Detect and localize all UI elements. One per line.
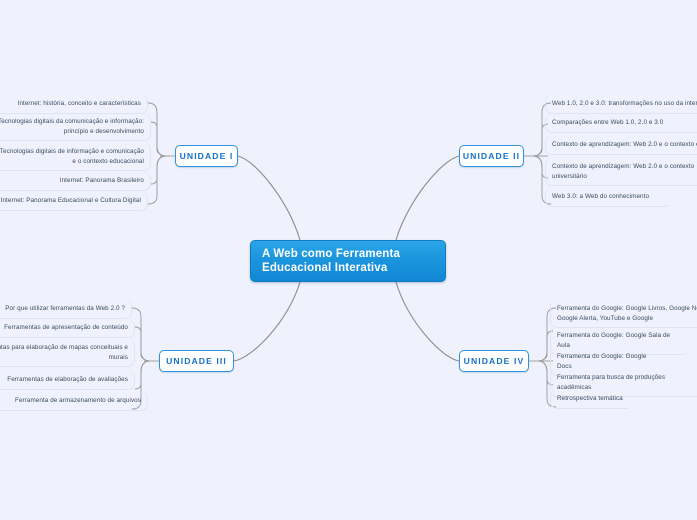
leaf-item[interactable]: Tecnologias digitais de informação e com… — [0, 143, 151, 171]
leaf-item[interactable]: Contexto de aprendizagem: Web 2.0 e o co… — [545, 158, 697, 186]
leaf-item[interactable]: Internet: Panorama Educacional e Cultura… — [0, 192, 148, 211]
leaf-item[interactable]: Internet: história, conceito e caracterí… — [0, 95, 148, 114]
branch-node-unidade-i[interactable]: UNIDADE I — [175, 145, 238, 167]
central-topic-node[interactable]: A Web como Ferramenta Educacional Intera… — [250, 240, 446, 282]
leaf-item[interactable]: Retrospectiva temática — [550, 390, 630, 409]
leaf-item[interactable]: Contexto de aprendizagem: Web 2.0 e o co… — [545, 136, 697, 155]
connector-center-branch-1 — [396, 156, 459, 240]
leaf-item[interactable]: Web 1.0, 2.0 e 3.0: transformações no us… — [545, 95, 697, 114]
connector-center-branch-3 — [396, 282, 459, 361]
branch-node-unidade-iii[interactable]: UNIDADE III — [159, 350, 234, 372]
leaf-item[interactable]: Tecnologias digitais da comunicação e in… — [0, 113, 151, 141]
leaf-item[interactable]: Internet: Panorama Brasileiro — [0, 172, 151, 191]
connector-center-branch-0 — [238, 156, 300, 240]
leaf-item[interactable]: Comparações entre Web 1.0, 2.0 e 3.0 — [545, 114, 697, 133]
connector-center-branch-2 — [234, 282, 300, 361]
mindmap-canvas[interactable]: A Web como Ferramenta Educacional Intera… — [0, 0, 697, 520]
branch-node-unidade-ii[interactable]: UNIDADE II — [459, 145, 524, 167]
leaf-item[interactable]: Ferramentas de apresentação de conteúdo — [0, 319, 135, 338]
branch-node-unidade-iv[interactable]: UNIDADE IV — [459, 350, 529, 372]
leaf-item[interactable]: Por que utilizar ferramentas da Web 2.0 … — [0, 300, 132, 319]
leaf-item[interactable]: Ferramentas de elaboração de avaliações — [0, 371, 135, 390]
leaf-item[interactable]: Ferramenta do Google: Google Livros, Goo… — [550, 300, 697, 328]
leaf-item[interactable]: Ferramenta de armazenamento de arquivos — [0, 392, 148, 411]
leaf-item[interactable]: Web 3.0: a Web do conhecimento — [545, 188, 670, 207]
leaf-item[interactable]: Ferramentas para elaboração de mapas con… — [0, 339, 135, 367]
